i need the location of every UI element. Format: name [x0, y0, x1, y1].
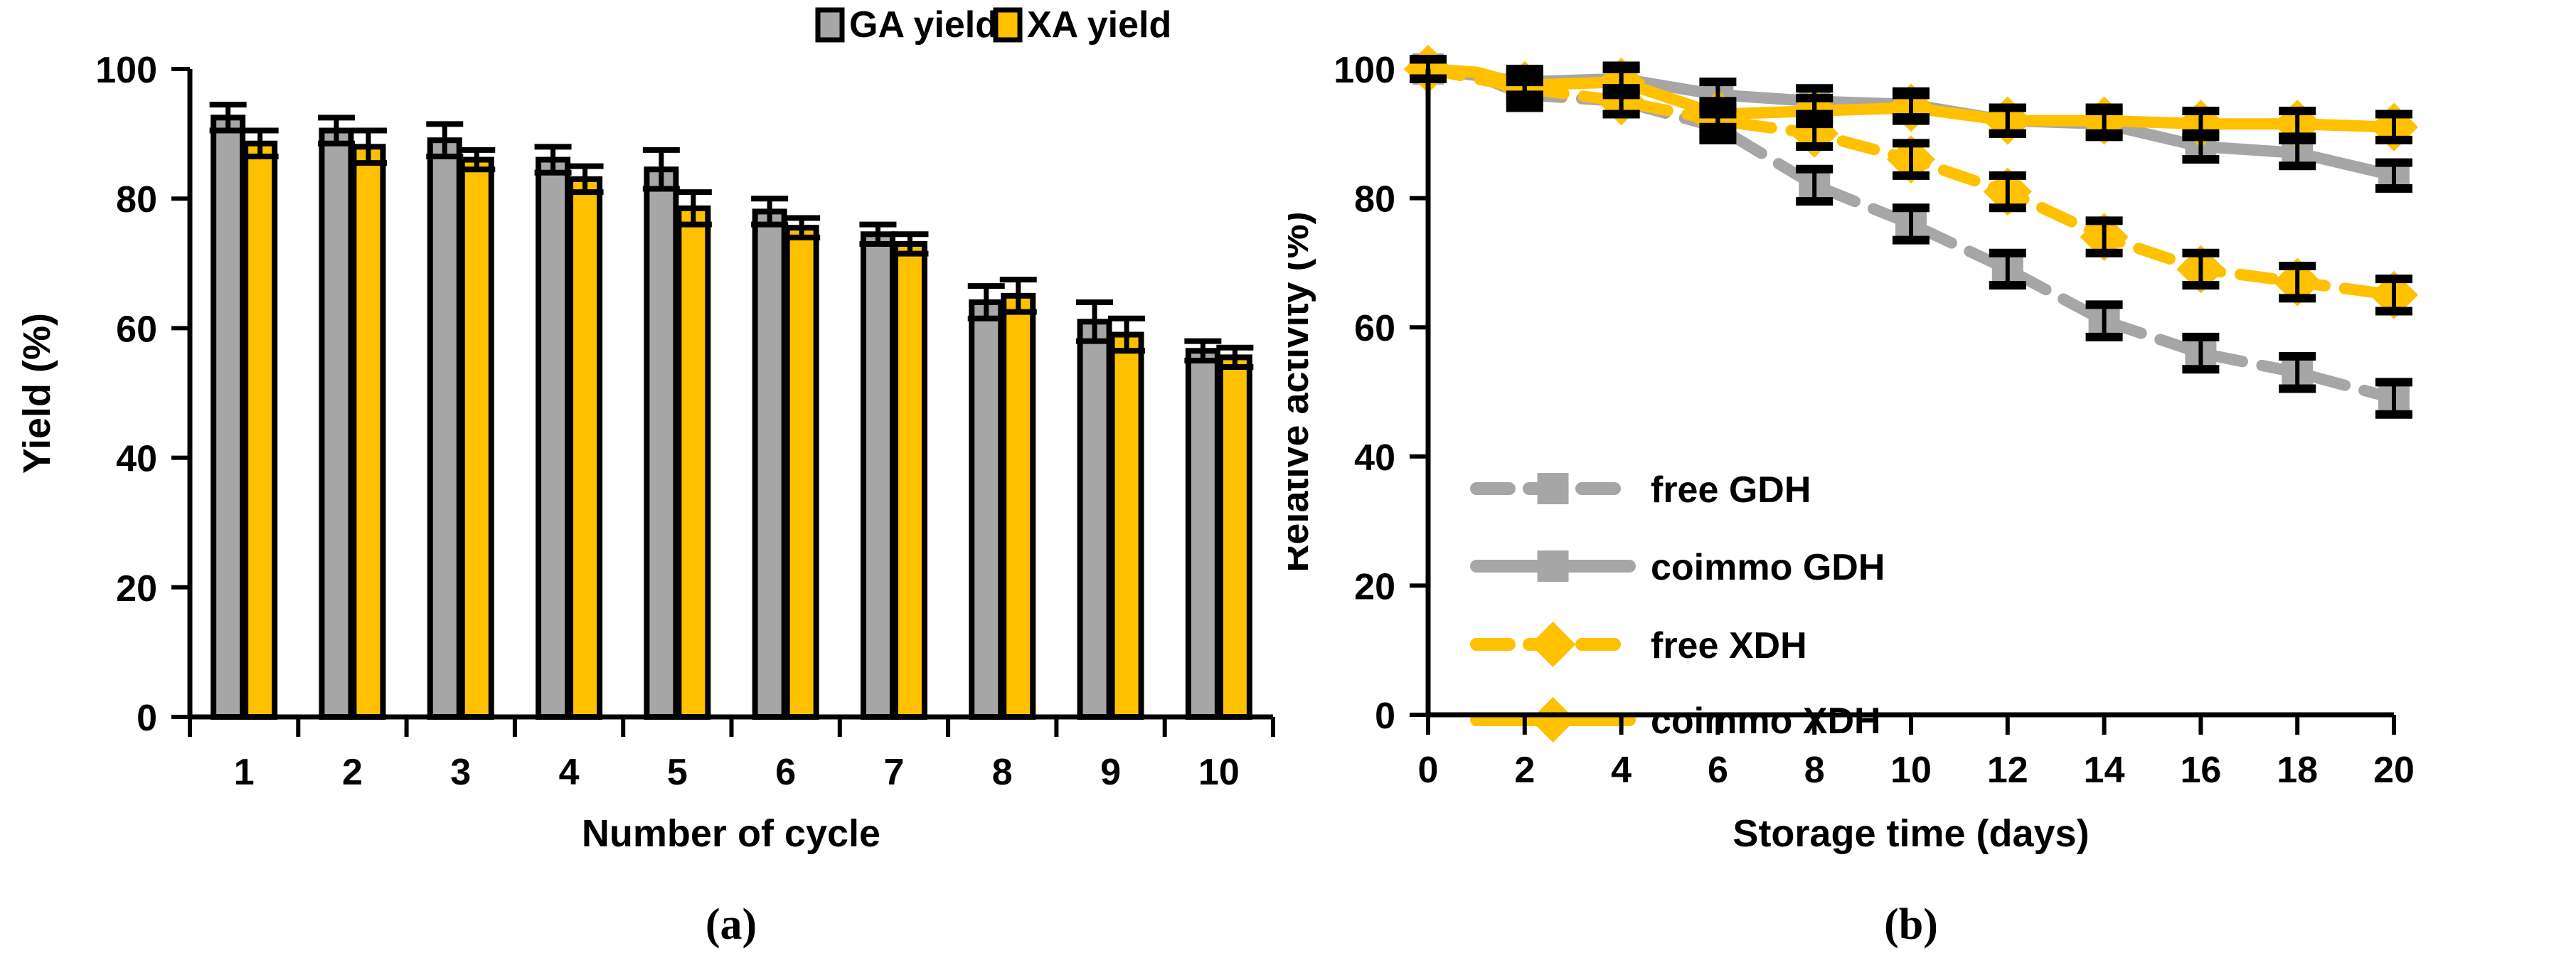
panel-b-y-axis-ticks: 020406080100 — [1334, 50, 1428, 737]
panel-b-x-tick-label: 18 — [2277, 750, 2318, 791]
bar-ga-yield — [213, 117, 243, 717]
bar-xa-yield — [570, 179, 600, 717]
panel-a-y-axis-title: Yield (%) — [16, 313, 58, 474]
bar-ga-yield — [321, 131, 351, 717]
panel-b-legend: free GDHcoimmo GDHfree XDHcoimmo XDH — [1476, 469, 1885, 743]
panel-b-x-tick-label: 12 — [1987, 750, 2028, 791]
bar-ga-yield — [538, 160, 568, 717]
bar-ga-yield — [755, 211, 784, 717]
bar-ga-yield — [863, 234, 893, 717]
panel-b-y-tick-label: 80 — [1354, 179, 1395, 220]
panel-b-legend-label: coimmo GDH — [1651, 547, 1885, 588]
panel-b-y-tick-label: 0 — [1375, 696, 1395, 737]
panel-b-x-tick-label: 14 — [2084, 750, 2125, 791]
panel-b-x-tick-label: 10 — [1890, 750, 1932, 791]
panel-b-legend-label: free XDH — [1651, 625, 1807, 666]
panel-a-x-tick-label: 3 — [450, 752, 471, 793]
panel-a-y-tick-label: 40 — [116, 439, 157, 480]
panel-b-legend-label: coimmo XDH — [1651, 701, 1881, 742]
bar-ga-yield — [1080, 321, 1109, 717]
panel-a-x-tick-label: 4 — [559, 752, 580, 793]
panel-a-x-tick-label: 7 — [883, 752, 904, 793]
panel-b-x-tick-label: 6 — [1708, 750, 1728, 791]
panel-b-line-chart: 020406080100 free GDHcoimmo GDHfree XDHc… — [1288, 0, 2576, 963]
bar-xa-yield — [895, 244, 925, 717]
bar-xa-yield — [1004, 296, 1033, 717]
bar-ga-yield — [430, 140, 459, 717]
legend-diamond-marker-icon — [1531, 697, 1576, 743]
panel-b-x-tick-label: 16 — [2180, 750, 2221, 791]
bar-ga-yield — [1188, 351, 1218, 717]
panel-a-x-axis-title: Number of cycle — [582, 812, 880, 855]
panel-a-legend: GA yieldXA yield — [818, 4, 1171, 46]
bar-xa-yield — [1112, 335, 1141, 717]
panel-a-legend-label: XA yield — [1027, 4, 1171, 46]
panel-a-y-tick-label: 60 — [116, 309, 157, 350]
legend-square-marker-icon — [1538, 473, 1569, 504]
panel-a-y-tick-label: 0 — [137, 698, 157, 739]
panel-b-x-tick-label: 4 — [1611, 750, 1632, 791]
panel-a-y-axis-ticks: 020406080100 — [95, 50, 190, 739]
panel-a-x-tick-label: 9 — [1100, 752, 1121, 793]
panel-b-legend-label: free GDH — [1651, 469, 1811, 511]
panel-a-caption: (a) — [706, 900, 757, 949]
panel-b-legend-item: coimmo XDH — [1476, 697, 1881, 743]
bar-xa-yield — [678, 208, 708, 717]
panel-b-x-tick-label: 2 — [1514, 750, 1535, 791]
panel-a-y-tick-label: 20 — [116, 568, 157, 610]
legend-diamond-marker-icon — [1531, 622, 1576, 667]
bar-xa-yield — [462, 160, 491, 717]
panel-b-x-tick-label: 8 — [1804, 750, 1825, 791]
panel-a-x-tick-label: 5 — [667, 752, 688, 793]
bar-ga-yield — [646, 169, 676, 717]
panel-b-legend-item: coimmo GDH — [1476, 547, 1885, 588]
legend-swatch-icon — [996, 10, 1020, 40]
panel-a-x-tick-label: 6 — [775, 752, 796, 793]
figure-container: GA yieldXA yield 020406080100 1234567891… — [0, 0, 2576, 963]
panel-b-y-tick-label: 100 — [1334, 50, 1395, 91]
legend-swatch-icon — [818, 10, 842, 40]
panel-a-y-tick-label: 80 — [116, 179, 157, 220]
panel-b-y-tick-label: 20 — [1354, 566, 1395, 607]
panel-b-y-axis-title: Relative activity (%) — [1288, 211, 1316, 572]
bar-xa-yield — [787, 228, 816, 717]
panel-b-x-axis-title: Storage time (days) — [1733, 812, 2089, 855]
panel-a-svg: GA yieldXA yield 020406080100 1234567891… — [0, 0, 1288, 963]
panel-a-x-tick-label: 8 — [992, 752, 1013, 793]
panel-a-x-tick-label: 10 — [1198, 752, 1240, 793]
legend-square-marker-icon — [1538, 550, 1569, 582]
panel-b-x-tick-label: 0 — [1418, 750, 1439, 791]
panel-a-y-tick-label: 100 — [95, 50, 157, 91]
bar-xa-yield — [353, 147, 383, 717]
panel-a-x-tick-label: 2 — [342, 752, 363, 793]
panel-a-bar-chart: GA yieldXA yield 020406080100 1234567891… — [0, 0, 1288, 963]
panel-a-legend-item: GA yield — [818, 4, 998, 46]
panel-a-legend-item: XA yield — [996, 4, 1171, 46]
bar-xa-yield — [1220, 357, 1250, 717]
panel-a-legend-label: GA yield — [849, 4, 998, 46]
panel-b-x-tick-label: 20 — [2373, 750, 2415, 791]
panel-b-svg: 020406080100 free GDHcoimmo GDHfree XDHc… — [1288, 0, 2576, 963]
panel-a-bars — [210, 105, 1254, 717]
bar-xa-yield — [245, 144, 275, 717]
panel-b-caption: (b) — [1884, 900, 1938, 949]
panel-b-legend-item: free XDH — [1476, 622, 1807, 667]
panel-b-y-tick-label: 40 — [1354, 437, 1395, 479]
bar-ga-yield — [972, 302, 1001, 717]
panel-a-x-axis-ticks: 12345678910 — [190, 717, 1273, 793]
panel-b-y-tick-label: 60 — [1354, 308, 1395, 349]
panel-b-legend-item: free GDH — [1476, 469, 1811, 511]
panel-a-x-tick-label: 1 — [234, 752, 255, 793]
